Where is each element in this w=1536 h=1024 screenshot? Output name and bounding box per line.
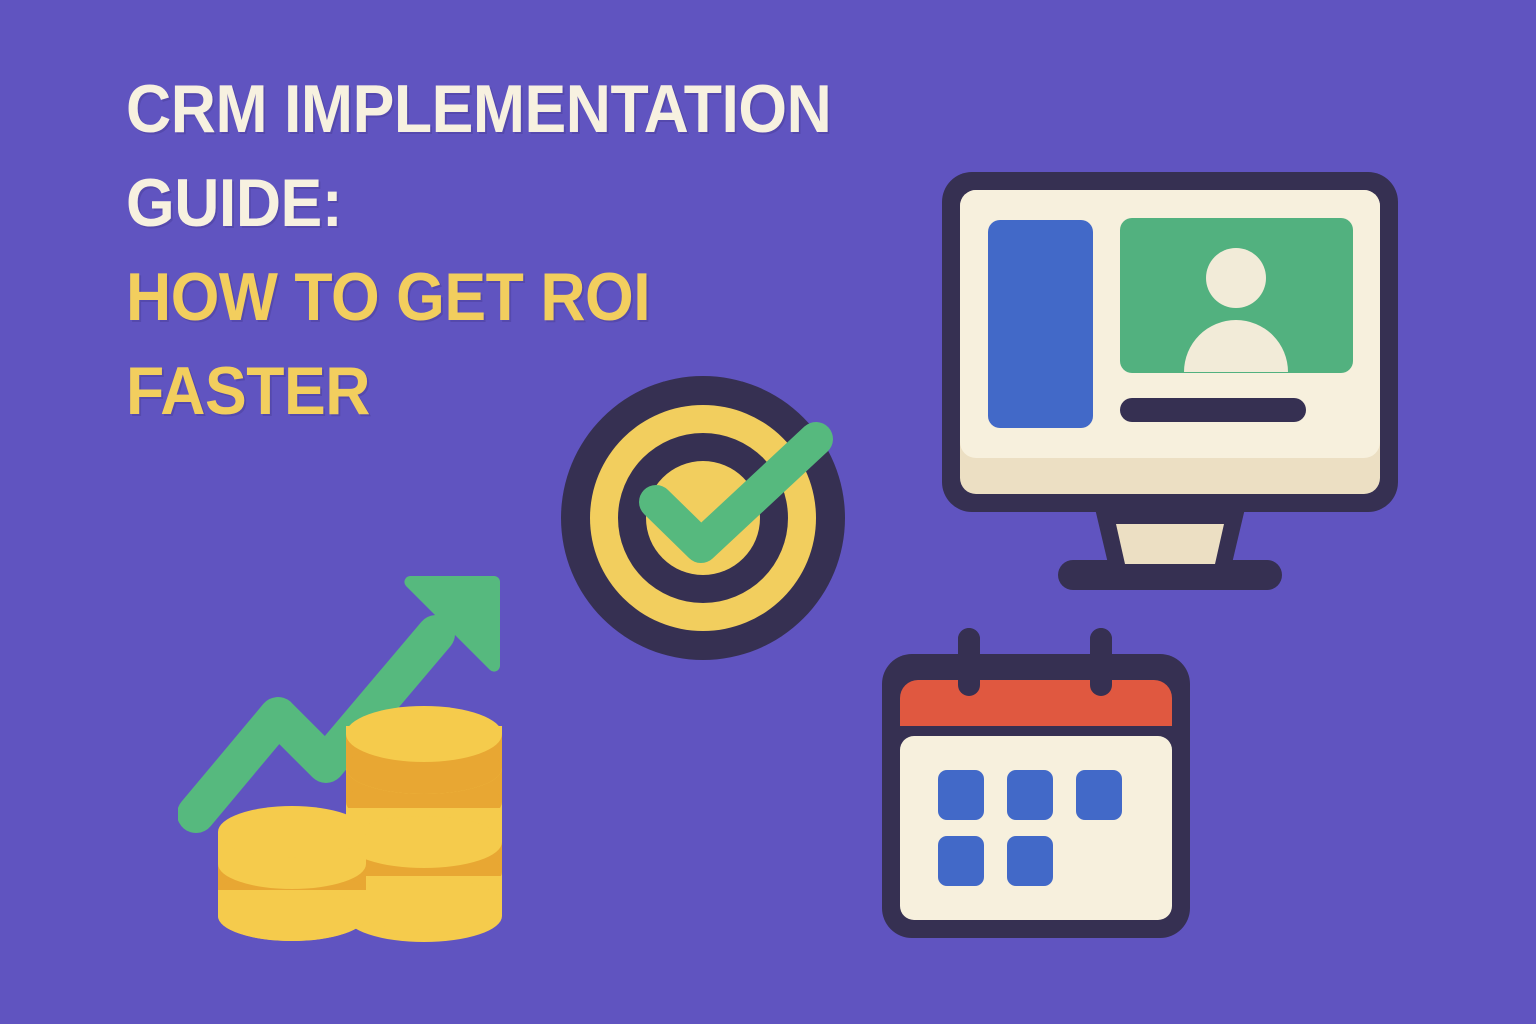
calendar-date-square	[1007, 836, 1053, 886]
title-line-2: GUIDE:	[126, 156, 972, 250]
calendar-header-icon	[900, 680, 1172, 726]
calendar-date-square	[1076, 770, 1122, 820]
calendar-date-square	[938, 770, 984, 820]
coin-top-face	[218, 806, 366, 858]
text-bar-icon	[1120, 398, 1306, 422]
calendar-illustration	[868, 618, 1204, 954]
calendar-date-square	[1007, 770, 1053, 820]
coin-stack-short-icon	[218, 806, 366, 941]
title-line-3: HOW TO GET ROI	[126, 250, 972, 344]
graphic-canvas: CRM IMPLEMENTATION GUIDE: HOW TO GET ROI…	[0, 0, 1536, 1024]
coin-stack-tall-icon	[346, 706, 502, 942]
title-line-1: CRM IMPLEMENTATION	[126, 62, 972, 156]
target-illustration	[558, 366, 858, 666]
coin-top-face	[346, 706, 502, 762]
monitor-illustration	[930, 160, 1410, 600]
calendar-date-square	[938, 836, 984, 886]
calendar-page	[900, 736, 1172, 920]
avatar-head-icon	[1206, 248, 1266, 308]
sidebar-panel-icon	[988, 220, 1093, 428]
coins-growth-illustration	[178, 556, 598, 960]
